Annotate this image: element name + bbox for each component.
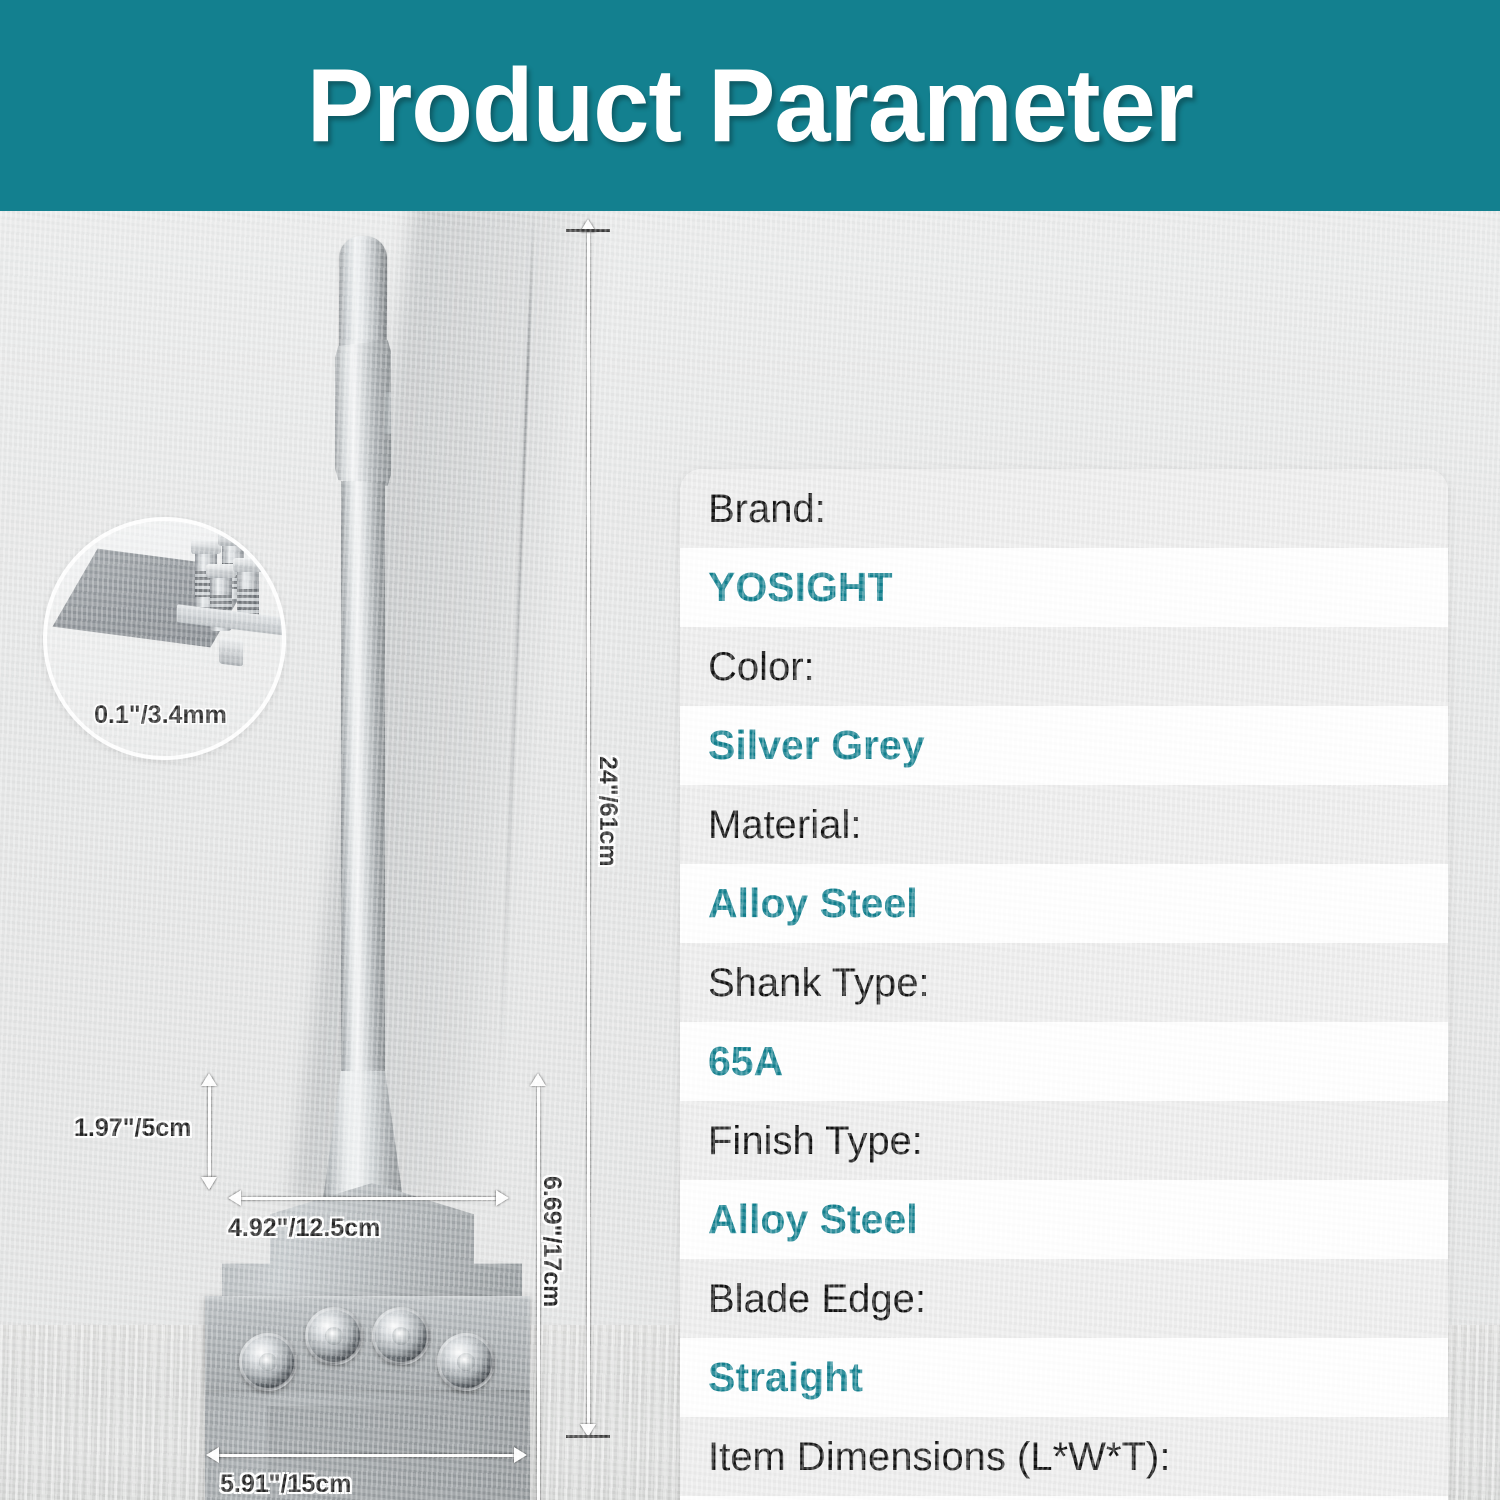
spec-label-text: Material:	[708, 804, 861, 846]
spec-value-text: Straight	[708, 1355, 863, 1401]
spec-label-text: Shank Type:	[708, 962, 930, 1004]
arrow-up-icon	[201, 1073, 217, 1086]
spec-row-label: Brand:	[680, 469, 1448, 548]
spec-label-text: Blade Edge:	[708, 1278, 926, 1320]
spec-label-text: Item Dimensions (L*W*T):	[708, 1436, 1170, 1478]
product-parameter-infographic: Product Parameter	[0, 0, 1500, 1500]
blade-width-label: 5.91"/15cm	[220, 1470, 351, 1499]
blade-head-bracket	[222, 1183, 522, 1313]
arrow-down-icon	[201, 1177, 217, 1190]
spec-row-value: 24" x 6" x 0.1"	[680, 1496, 1448, 1500]
page-title: Product Parameter	[307, 54, 1193, 158]
arrow-left-icon	[206, 1447, 219, 1463]
arrow-left-icon	[228, 1190, 241, 1206]
overall-length-label: 24"/61cm	[593, 756, 622, 867]
bolt-icon	[239, 1333, 297, 1391]
spec-row-value: Silver Grey	[680, 706, 1448, 785]
blade-height-label: 6.69"/17cm	[537, 1176, 566, 1307]
arrow-right-icon	[496, 1190, 509, 1206]
bolt-icon	[437, 1333, 495, 1391]
inset-caption: 0.1"/3.4mm	[43, 701, 278, 730]
spec-row-label: Finish Type:	[680, 1101, 1448, 1180]
spec-value-text: Alloy Steel	[708, 1197, 918, 1243]
spec-row-label: Shank Type:	[680, 943, 1448, 1022]
tick-mark	[566, 1435, 610, 1438]
spec-table: Brand:YOSIGHTColor:Silver GreyMaterial:A…	[680, 469, 1448, 1500]
bolt-icon	[305, 1307, 363, 1365]
spec-row-value: Alloy Steel	[680, 864, 1448, 943]
overall-length-line	[587, 231, 590, 1436]
product-photo-stage: 0.1"/3.4mm 24"/61cm 1.97"/5cm 4.92"/12.5…	[0, 211, 1500, 1500]
spec-row-value: Straight	[680, 1338, 1448, 1417]
arrow-right-icon	[514, 1447, 527, 1463]
spec-row-label: Item Dimensions (L*W*T):	[680, 1417, 1448, 1496]
spec-value-text: YOSIGHT	[708, 565, 893, 611]
spec-row-value: 65A	[680, 1022, 1448, 1101]
spec-label-text: Finish Type:	[708, 1120, 923, 1162]
clamp-height-line	[208, 1083, 211, 1188]
header-banner: Product Parameter	[0, 0, 1500, 211]
clamp-height-label: 1.97"/5cm	[74, 1114, 192, 1143]
tool-shaft	[341, 481, 385, 1081]
tick-mark	[566, 229, 610, 232]
spec-row-label: Material:	[680, 785, 1448, 864]
spec-row-label: Blade Edge:	[680, 1259, 1448, 1338]
spec-row-value: YOSIGHT	[680, 548, 1448, 627]
spec-value-text: 65A	[708, 1039, 783, 1085]
spec-value-text: Alloy Steel	[708, 881, 918, 927]
shank-collar	[335, 340, 391, 486]
scraper-tool-image	[0, 211, 760, 1500]
spec-label-text: Color:	[708, 646, 815, 688]
blade-width-line	[218, 1454, 518, 1457]
bolt-icon	[372, 1307, 430, 1365]
spec-value-text: Silver Grey	[708, 723, 925, 769]
arrow-up-icon	[530, 1073, 546, 1086]
spec-row-value: Alloy Steel	[680, 1180, 1448, 1259]
spec-label-text: Brand:	[708, 488, 826, 530]
clamp-width-line	[240, 1197, 500, 1200]
spec-row-label: Color:	[680, 627, 1448, 706]
clamp-width-label: 4.92"/12.5cm	[228, 1214, 380, 1243]
